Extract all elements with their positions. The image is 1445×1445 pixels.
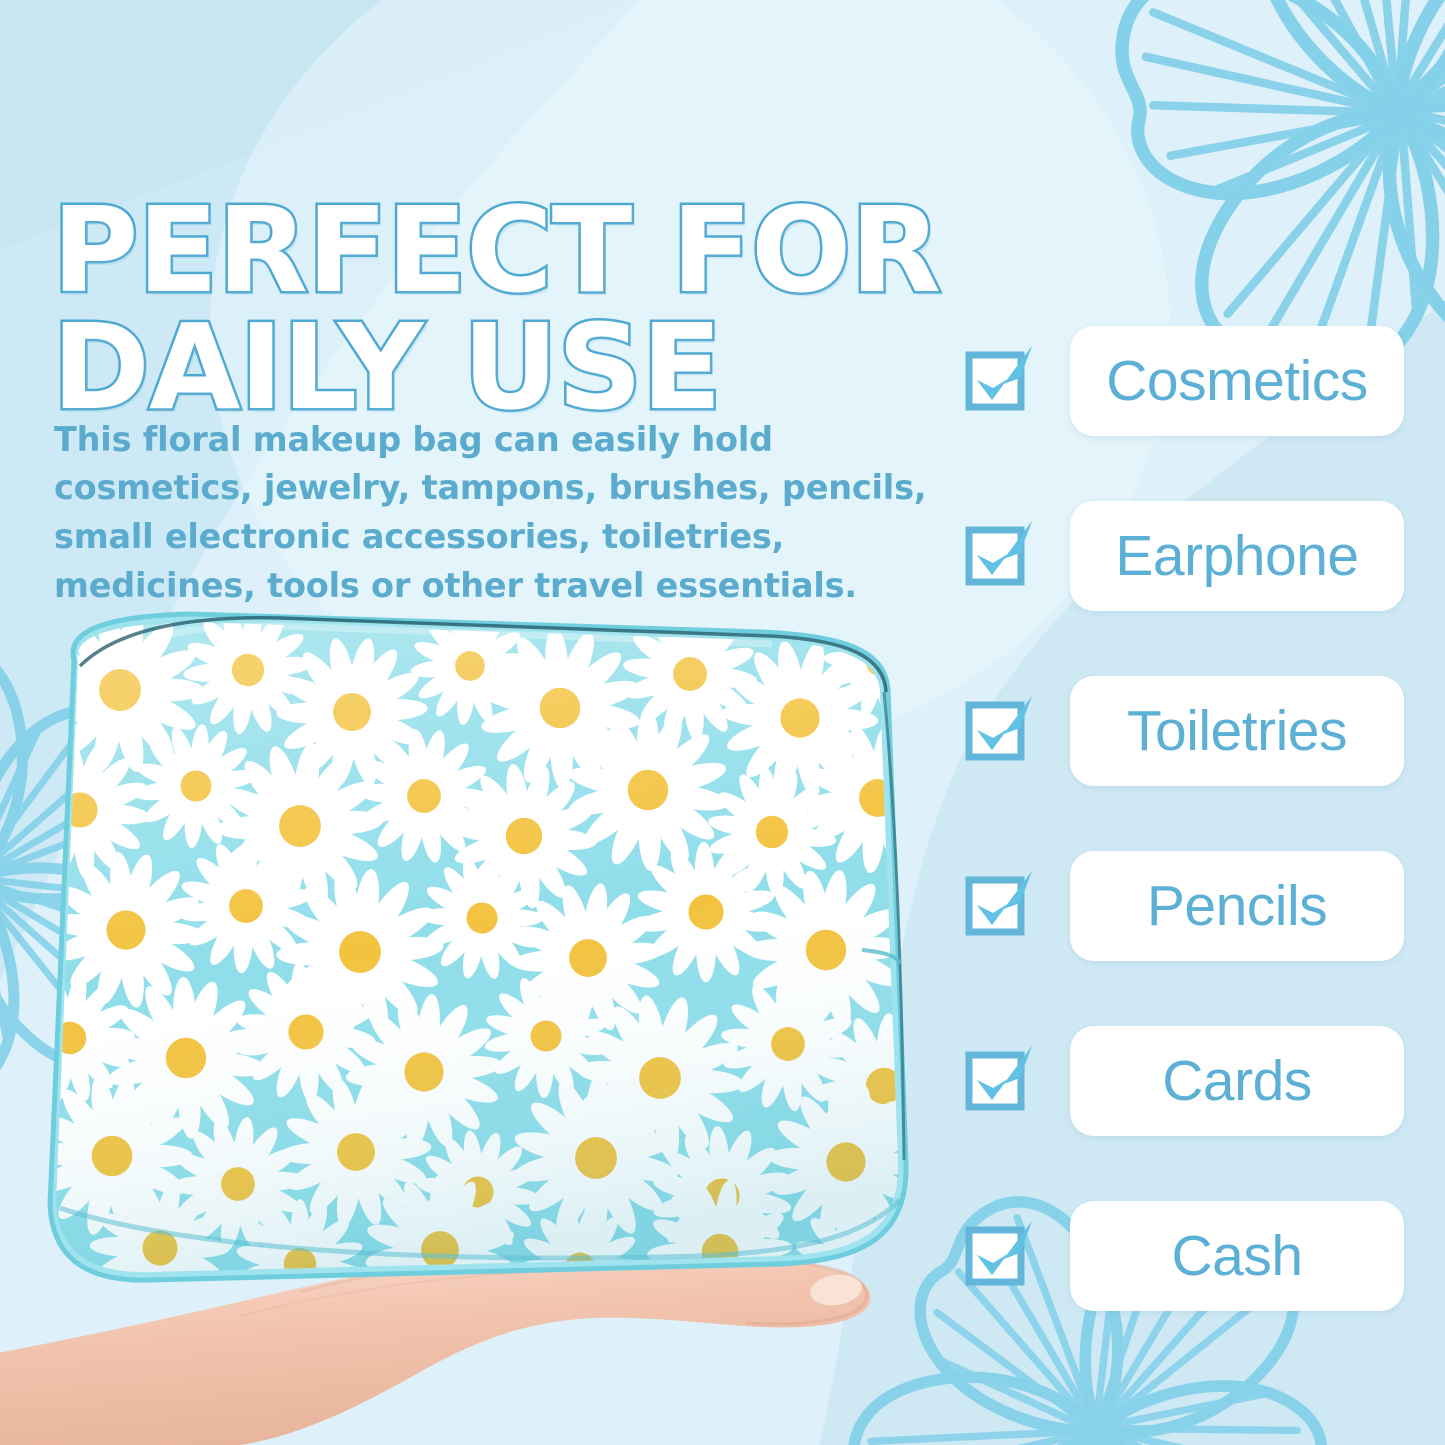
infographic-canvas: PERFECT FOR DAILY USE This floral makeup… <box>0 0 1445 1445</box>
checklist-item-label: Cosmetics <box>1106 348 1368 414</box>
checklist-item-label: Cards <box>1162 1048 1312 1114</box>
checklist-item-label: Earphone <box>1115 523 1358 589</box>
checklist-item[interactable]: Earphone <box>966 501 1414 676</box>
checkbox-checked-icon[interactable] <box>966 344 1034 410</box>
checklist-pill[interactable]: Earphone <box>1070 501 1404 611</box>
checklist-pill[interactable]: Cosmetics <box>1070 326 1404 436</box>
checklist-pill[interactable]: Cash <box>1070 1201 1404 1311</box>
checkbox-checked-icon[interactable] <box>966 1219 1034 1285</box>
checklist-pill[interactable]: Toiletries <box>1070 676 1404 786</box>
checklist-item[interactable]: Cosmetics <box>966 326 1414 501</box>
checklist-item[interactable]: Cards <box>966 1026 1414 1201</box>
checklist-item[interactable]: Pencils <box>966 851 1414 1026</box>
checkbox-checked-icon[interactable] <box>966 519 1034 585</box>
checklist-pill[interactable]: Pencils <box>1070 851 1404 961</box>
page-title-line-2: DAILY USE <box>52 309 992 426</box>
checklist-item-label: Toiletries <box>1127 698 1347 764</box>
checkbox-checked-icon[interactable] <box>966 1044 1034 1110</box>
checklist-pill[interactable]: Cards <box>1070 1026 1404 1136</box>
checkbox-checked-icon[interactable] <box>966 694 1034 760</box>
description-text: This floral makeup bag can easily hold c… <box>54 416 959 612</box>
product-photo <box>0 600 960 1445</box>
checklist-item-label: Cash <box>1171 1223 1302 1289</box>
checklist-item[interactable]: Toiletries <box>966 676 1414 851</box>
makeup-bag <box>0 600 960 1358</box>
checkbox-checked-icon[interactable] <box>966 869 1034 935</box>
feature-checklist: Cosmetics Earphone <box>966 326 1414 1201</box>
checklist-item-label: Pencils <box>1147 873 1327 939</box>
